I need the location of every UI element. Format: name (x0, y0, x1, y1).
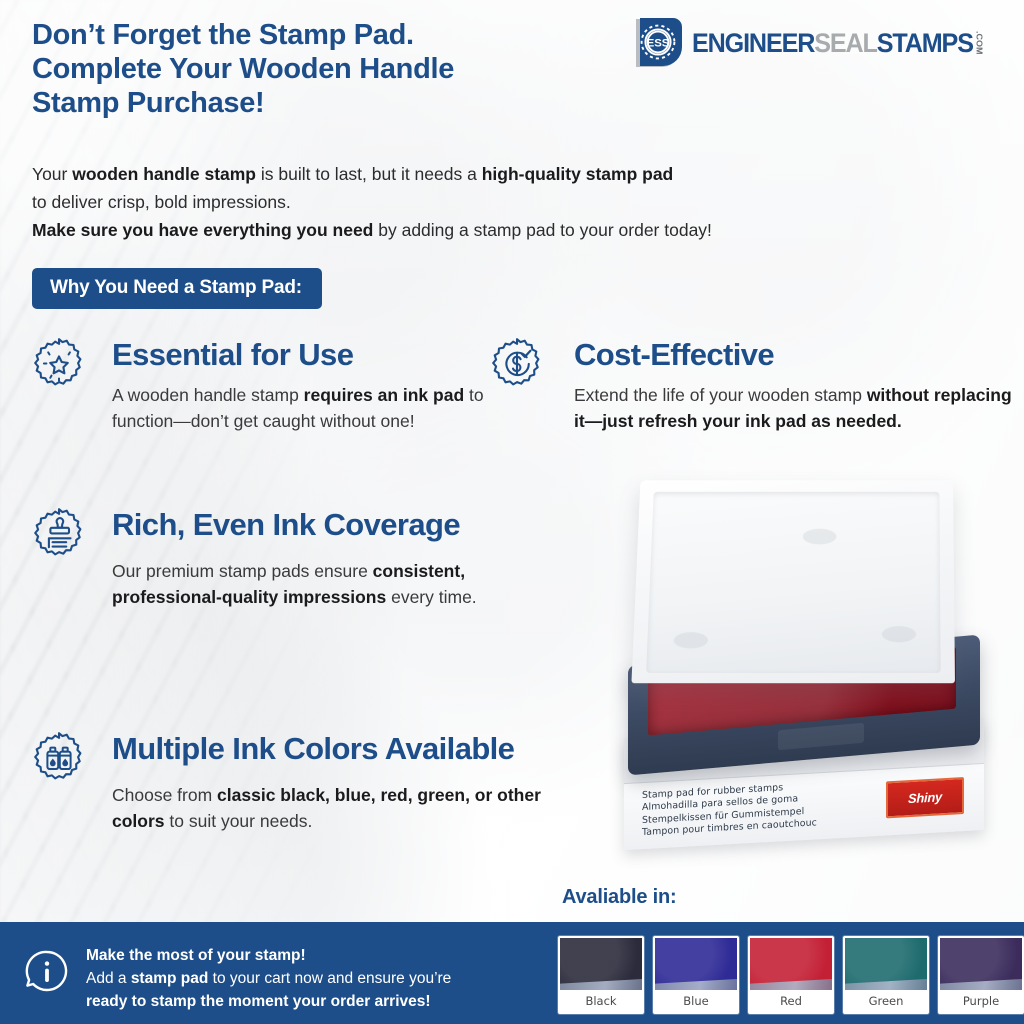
badge-stamp-icon (30, 506, 88, 564)
feature-essential-for-use: Essential for Use A wooden handle stamp … (30, 336, 490, 434)
banner-line-2-a: Add a (86, 970, 131, 987)
intro-line1-c: is built to last, but it needs a (256, 164, 482, 184)
badge-ink-bottles-icon (30, 730, 88, 788)
color-swatch-blue[interactable]: Blue (653, 936, 739, 1014)
logo-word-stamps: STAMPS (877, 28, 973, 59)
swatch-label: Blue (655, 990, 737, 1012)
shiny-brand-logo: Shiny (886, 777, 964, 818)
intro-line1-a: Your (32, 164, 72, 184)
lid-dimple-right (882, 626, 916, 642)
section-badge: Why You Need a Stamp Pad: (32, 268, 322, 309)
product-photo: Stamp pad for rubber stamps Almohadilla … (540, 470, 1010, 890)
feature-body-c: every time. (386, 587, 476, 607)
feature-body: Our premium stamp pads ensure consistent… (112, 558, 484, 610)
swatch-color-green (845, 938, 927, 990)
color-swatch-black[interactable]: Black (558, 936, 644, 1014)
ess-shield-icon: ESS (630, 15, 686, 71)
feature-body-a: A wooden handle stamp (112, 385, 304, 405)
lid-dimple-left (673, 632, 708, 648)
feature-cost-effective: Cost-Effective Extend the life of your w… (488, 336, 1018, 434)
intro-line3-a: Make sure you have everything you need (32, 220, 373, 240)
logo-word-com: .COM (975, 31, 983, 55)
lid-dimple-top (803, 529, 837, 545)
feature-multiple-ink-colors: Multiple Ink Colors Available Choose fro… (30, 730, 540, 834)
feature-title: Cost-Effective (574, 336, 1018, 374)
bottom-cta-banner: Make the most of your stamp! Add a stamp… (0, 922, 1024, 1024)
feature-body-a: Extend the life of your wooden stamp (574, 385, 867, 405)
swatch-color-blue (655, 938, 737, 990)
swatch-label: Purple (940, 990, 1022, 1012)
banner-line-2-c: to your cart now and ensure you’re (208, 970, 451, 987)
badge-star-icon (30, 336, 88, 394)
swatch-color-purple (940, 938, 1022, 990)
company-logo[interactable]: ESS ENGINEER SEAL STAMPS .COM (630, 14, 1012, 72)
logo-wordmark: ENGINEER SEAL STAMPS .COM (692, 28, 983, 59)
page-headline: Don’t Forget the Stamp Pad. Complete You… (32, 18, 652, 120)
infographic-page: Don’t Forget the Stamp Pad. Complete You… (0, 0, 1024, 1024)
feature-title: Rich, Even Ink Coverage (112, 506, 490, 544)
carton-front-face: Stamp pad for rubber stamps Almohadilla … (624, 763, 984, 850)
intro-line2: to deliver crisp, bold impressions. (32, 192, 291, 212)
intro-paragraph: Your wooden handle stamp is built to las… (32, 160, 912, 244)
carton-multilingual-text: Stamp pad for rubber stamps Almohadilla … (642, 780, 817, 839)
banner-line-1: Make the most of your stamp! (86, 947, 306, 964)
color-swatch-red[interactable]: Red (748, 936, 834, 1014)
intro-line1-b: wooden handle stamp (72, 164, 256, 184)
intro-line1-d: high-quality stamp pad (482, 164, 674, 184)
swatch-color-black (560, 938, 642, 990)
headline-line-3: Stamp Purchase! (32, 86, 652, 120)
color-swatch-green[interactable]: Green (843, 936, 929, 1014)
color-swatch-purple[interactable]: Purple (938, 936, 1024, 1014)
color-swatch-list: Black Blue Red Green Purple (558, 936, 1024, 1014)
logo-word-seal: SEAL (814, 28, 877, 59)
feature-body: A wooden handle stamp requires an ink pa… (112, 382, 490, 434)
info-bubble-icon (22, 947, 72, 997)
feature-body-b: requires an ink pad (304, 385, 464, 405)
feature-title: Essential for Use (112, 336, 490, 374)
badge-dollar-check-icon (488, 336, 546, 394)
headline-line-2: Complete Your Wooden Handle (32, 52, 652, 86)
swatch-label: Black (560, 990, 642, 1012)
feature-body: Extend the life of your wooden stamp wit… (574, 382, 1012, 434)
feature-title: Multiple Ink Colors Available (112, 730, 540, 768)
lid-inner-surface (646, 492, 941, 673)
swatch-label: Green (845, 990, 927, 1012)
banner-message: Make the most of your stamp! Add a stamp… (86, 944, 556, 1013)
feature-body-a: Choose from (112, 785, 217, 805)
feature-rich-even-ink-coverage: Rich, Even Ink Coverage Our premium stam… (30, 506, 490, 610)
svg-text:ESS: ESS (647, 38, 670, 50)
swatch-label: Red (750, 990, 832, 1012)
feature-body: Choose from classic black, blue, red, gr… (112, 782, 542, 834)
feature-body-c: to suit your needs. (165, 811, 313, 831)
product-stage: Stamp pad for rubber stamps Almohadilla … (540, 470, 1010, 890)
banner-line-3: ready to stamp the moment your order arr… (86, 993, 431, 1010)
swatch-color-red (750, 938, 832, 990)
intro-line3-b: by adding a stamp pad to your order toda… (373, 220, 712, 240)
logo-word-engineer: ENGINEER (692, 28, 814, 59)
feature-body-a: Our premium stamp pads ensure (112, 561, 373, 581)
headline-line-1: Don’t Forget the Stamp Pad. (32, 18, 652, 52)
stamp-pad-lid (631, 480, 955, 683)
banner-line-2-b: stamp pad (131, 970, 209, 987)
pad-base-notch (778, 723, 864, 751)
available-in-title: Avaliable in: (562, 886, 676, 909)
